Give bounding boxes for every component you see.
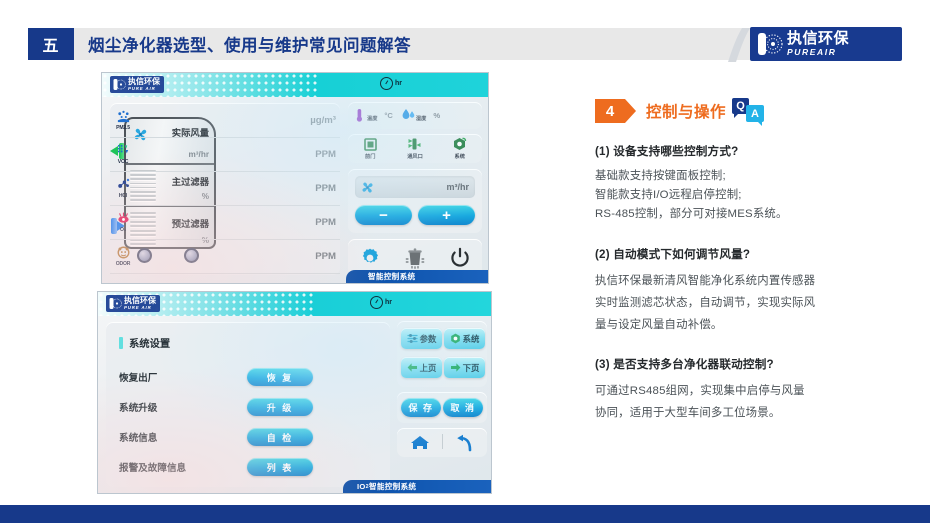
sensor-unit: PPM	[315, 217, 336, 228]
odor-icon: ODOR	[112, 243, 134, 269]
gear-icon	[359, 247, 381, 269]
qa-block-3: (3) 是否支持多台净化器联动控制? 可通过RS485组网，实现集中启停与风量 …	[595, 356, 895, 424]
self-check-button[interactable]: 自 检	[247, 428, 313, 446]
front-door-icon	[363, 137, 378, 152]
settings-panel-title: 系统设置	[119, 335, 170, 350]
clock-icon	[380, 77, 393, 90]
hmi-brand-logo: 执信环保 PURE AIR	[110, 76, 164, 93]
factory-reset-button[interactable]: 恢 复	[247, 368, 313, 386]
next-page-button[interactable]: 下页	[444, 357, 485, 378]
sensor-name: VOC	[118, 159, 128, 165]
answer-line: RS-485控制，部分可对接MES系统。	[595, 205, 895, 224]
arrow-left-icon	[407, 362, 418, 373]
sensor-row-hci: HCI PPM	[110, 171, 340, 206]
system-button[interactable]: 系统	[444, 328, 485, 349]
settings-row-system-info: 系统信息 自 检	[119, 426, 378, 448]
settings-row-upgrade: 系统升级 升 级	[119, 396, 378, 418]
vent-icon	[407, 137, 422, 152]
hmi-brand-en: PURE AIR	[128, 87, 160, 91]
hci-icon: HCI	[112, 175, 134, 201]
qa-content-panel: 4 控制与操作 Q A (1) 设备支持哪些控制方式? 基础款支持按键面板控制;…	[595, 98, 895, 424]
settings-panel-title-text: 系统设置	[129, 335, 170, 350]
cancel-button[interactable]: 取 消	[443, 398, 483, 417]
hmi-topbar: 执信环保 PURE AIR hr	[98, 292, 491, 316]
home-icon	[410, 434, 430, 452]
answer-line: 基础款支持按键面板控制;	[595, 167, 895, 186]
section-badge: 4	[595, 99, 625, 123]
clock-unit: hr	[395, 80, 402, 87]
sensor-row-odor: ODOR PPM	[110, 239, 340, 274]
back-arrow-icon	[455, 434, 475, 452]
save-button[interactable]: 保 存	[401, 398, 441, 417]
hmi-runtime-clock: hr	[370, 296, 392, 309]
question-title: (2) 自动模式下如何调节风量?	[595, 246, 895, 262]
previous-page-button[interactable]: 上页	[401, 357, 442, 378]
sensor-unit: PPM	[315, 183, 336, 194]
answer-line: 量与设定风量自动补偿。	[595, 314, 895, 336]
qa-section-header: 4 控制与操作 Q A	[595, 98, 895, 124]
hmi-footer-text: 智能控制系统	[368, 271, 415, 282]
airflow-control-box: m³/hr − +	[348, 169, 482, 233]
airflow-decrease-button[interactable]: −	[355, 205, 412, 225]
answer-bubble-icon: A	[746, 105, 764, 122]
humidity-icon	[402, 108, 415, 123]
header-swoosh-decor	[728, 28, 750, 62]
power-button[interactable]	[449, 247, 471, 269]
settings-row-label: 系统升级	[119, 400, 157, 414]
settings-row-factory-reset: 恢复出厂 恢 复	[119, 366, 378, 388]
sensor-name: O₃	[120, 227, 126, 233]
status-label: 通风口	[407, 153, 423, 160]
pureair-mark-icon	[757, 31, 783, 57]
minus-icon: −	[379, 208, 388, 223]
hmi-topbar: 执信环保 PURE AIR hr	[102, 73, 488, 97]
machine-status-card: 实际风量 m³/hr 主过滤器 %	[110, 103, 340, 275]
hmi-settings-screen: 执信环保 PURE AIR hr 系统设置 恢复出厂 恢 复 系统升级	[97, 291, 492, 494]
hmi-settings-right-column: 参数 系统 上页	[397, 321, 487, 457]
pureair-mark-icon	[109, 297, 122, 310]
hmi-footer-label: IO2智能控制系统	[343, 480, 491, 493]
question-title: (1) 设备支持哪些控制方式?	[595, 143, 895, 159]
slide-header: 五 烟尘净化器选型、使用与维护常见问题解答 执信环保 PUREAIR	[28, 28, 902, 60]
airflow-increase-button[interactable]: +	[418, 205, 475, 225]
navigation-button-box: 参数 系统 上页	[397, 321, 487, 387]
hmi-brand-en: PURE AIR	[124, 306, 156, 310]
voc-icon: VOC	[112, 141, 134, 167]
nav-button-label: 参数	[420, 333, 437, 345]
save-cancel-box: 保 存 取 消	[397, 392, 487, 423]
hmi-brand-logo: 执信环保 PURE AIR	[106, 295, 160, 312]
qa-section-title: 控制与操作	[646, 100, 726, 122]
environment-label: 温度	[367, 115, 377, 122]
environment-unit: °C	[384, 111, 393, 120]
question-title: (3) 是否支持多台净化器联动控制?	[595, 356, 895, 372]
hmi-settings-body: 系统设置 恢复出厂 恢 复 系统升级 升 级 系统信息 自 检 报警及故障信息 …	[98, 316, 491, 493]
arrow-right-icon	[450, 362, 461, 373]
airflow-unit: m³/hr	[447, 182, 470, 192]
sliders-icon	[407, 333, 418, 344]
home-button[interactable]	[410, 434, 430, 452]
system-icon	[452, 137, 467, 152]
answer-line: 可通过RS485组网，实现集中启停与风量	[595, 380, 895, 402]
divider	[442, 434, 443, 449]
status-system[interactable]: 系统	[452, 137, 467, 160]
environment-humidity: 湿度	[402, 108, 426, 123]
hmi-footer-prefix: IO	[357, 482, 366, 491]
nav-button-label: 上页	[420, 362, 437, 374]
brand-text: 执信环保 PUREAIR	[787, 31, 849, 57]
dust-collection-button[interactable]	[404, 247, 426, 269]
section-number: 五	[28, 28, 74, 60]
hmi-main-screen: 执信环保 PURE AIR hr	[101, 72, 489, 284]
hmi-main-body: 实际风量 m³/hr 主过滤器 %	[102, 97, 488, 283]
pureair-mark-icon	[113, 78, 126, 91]
sensor-name: ODOR	[116, 261, 130, 267]
hmi-runtime-clock: hr	[380, 77, 402, 90]
clock-unit: hr	[385, 299, 392, 306]
hmi-brand-cn: 执信环保	[128, 78, 160, 86]
hmi-brand-cn: 执信环保	[124, 297, 156, 305]
system-settings-card: 系统设置 恢复出厂 恢 复 系统升级 升 级 系统信息 自 检 报警及故障信息 …	[106, 322, 390, 487]
hmi-footer-label: 智能控制系统	[346, 270, 488, 283]
status-label: 系统	[455, 153, 465, 160]
settings-row-label: 报警及故障信息	[119, 460, 186, 474]
fan-icon	[360, 180, 375, 195]
sensor-readout-list: PM2.5 µg/m³ VOC PPM HC	[110, 103, 222, 275]
nav-button-label: 下页	[463, 362, 480, 374]
parameters-button[interactable]: 参数	[401, 328, 442, 349]
status-indicator-box: 前门 通风口	[348, 134, 482, 163]
pm25-icon: PM2.5	[112, 107, 134, 133]
thermometer-icon	[353, 108, 366, 123]
environment-readout-box: 温度 °C 湿度 %	[348, 102, 482, 129]
answer-line: 智能款支持I/O远程启停控制;	[595, 186, 895, 205]
sensor-name: HCI	[119, 193, 127, 199]
environment-temperature: 温度	[353, 108, 377, 123]
plus-icon: +	[442, 208, 451, 223]
nav-button-label: 系统	[463, 333, 480, 345]
sensor-row-pm25: PM2.5 µg/m³	[110, 103, 340, 138]
sensor-row-ozone: O₃ PPM	[110, 205, 340, 240]
page-title: 烟尘净化器选型、使用与维护常见问题解答	[88, 28, 411, 60]
system-upgrade-button[interactable]: 升 级	[247, 398, 313, 416]
alarm-list-button[interactable]: 列 表	[247, 458, 313, 476]
slide-canvas: 五 烟尘净化器选型、使用与维护常见问题解答 执信环保 PUREAIR	[0, 0, 930, 523]
qa-block-1: (1) 设备支持哪些控制方式? 基础款支持按键面板控制; 智能款支持I/O远程启…	[595, 143, 895, 224]
slide-footer-bar	[0, 505, 930, 523]
answer-line: 实时监测滤芯状态，自动调节，实现实际风	[595, 292, 895, 314]
settings-button[interactable]	[359, 247, 381, 269]
brand-logo: 执信环保 PUREAIR	[750, 27, 902, 61]
settings-row-label: 恢复出厂	[119, 370, 157, 384]
settings-row-alarm-info: 报警及故障信息 列 表	[119, 456, 378, 478]
sensor-unit: PPM	[315, 149, 336, 160]
qa-bubbles-icon: Q A	[732, 98, 766, 124]
sensor-row-voc: VOC PPM	[110, 137, 340, 172]
system-hex-icon	[450, 333, 461, 344]
status-label: 前门	[365, 153, 375, 160]
home-back-box	[397, 428, 487, 457]
hmi-footer-text: 智能控制系统	[369, 481, 416, 492]
ozone-icon: O₃	[112, 209, 134, 235]
power-icon	[449, 247, 471, 269]
answer-line: 协同，适用于大型车间多工位场景。	[595, 402, 895, 424]
sensor-unit: µg/m³	[310, 115, 336, 126]
brand-name-en: PUREAIR	[787, 48, 849, 57]
qa-block-2: (2) 自动模式下如何调节风量? 执信环保最新清风智能净化系统内置传感器 实时监…	[595, 246, 895, 336]
dust-bin-icon	[404, 247, 426, 269]
hmi-right-control-column: 温度 °C 湿度 %	[348, 102, 482, 276]
environment-label: 湿度	[416, 115, 426, 122]
clock-icon	[370, 296, 383, 309]
brand-name-cn: 执信环保	[787, 31, 849, 46]
sensor-name: PM2.5	[116, 125, 130, 131]
status-vent[interactable]: 通风口	[407, 137, 423, 160]
settings-row-label: 系统信息	[119, 430, 157, 444]
airflow-readout: m³/hr	[355, 176, 475, 198]
status-front-door[interactable]: 前门	[363, 137, 378, 160]
environment-unit: %	[433, 111, 440, 120]
back-button[interactable]	[455, 434, 475, 452]
sensor-unit: PPM	[315, 251, 336, 262]
answer-line: 执信环保最新清风智能净化系统内置传感器	[595, 270, 895, 292]
